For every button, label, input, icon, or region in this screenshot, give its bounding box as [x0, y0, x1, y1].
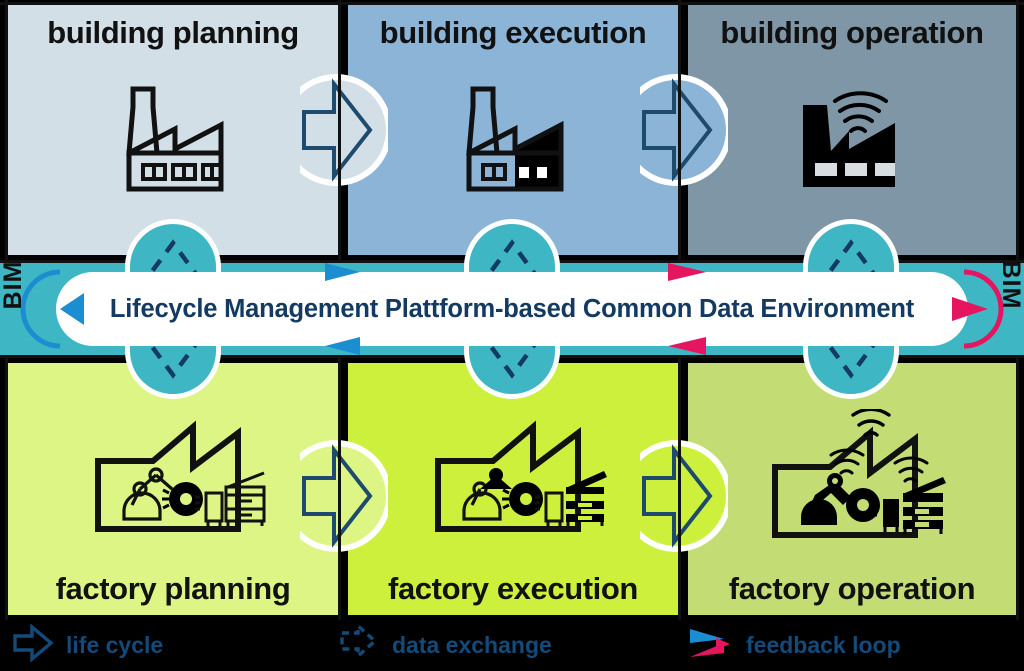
bim-label-left: BIM: [0, 248, 26, 322]
legend-label: feedback loop: [746, 632, 901, 659]
life-cycle-arrow-bottom-right: [640, 434, 728, 558]
factory-robot-outline-icon: [8, 399, 338, 569]
grid-edge-right-top: [1016, 0, 1019, 260]
factory-robot-filled-wifi-icon: [688, 399, 1016, 569]
panel-title: factory planning: [8, 571, 338, 607]
grid-divider-v4: [678, 358, 681, 620]
legend-label: life cycle: [66, 632, 163, 659]
factory-filled-wifi-icon: [688, 63, 1016, 203]
grid-edge-left-top: [5, 0, 8, 260]
panel-building-planning: building planning: [8, 5, 338, 255]
bim-label-right: BIM: [998, 248, 1024, 322]
cde-label: Lifecycle Management Plattform-based Com…: [56, 272, 968, 346]
panel-building-execution: building execution: [348, 5, 678, 255]
panel-title: building operation: [688, 15, 1016, 51]
panel-title: building execution: [348, 15, 678, 51]
grid-divider-v2: [678, 0, 681, 260]
dashed-arrow-icon: [338, 623, 380, 668]
double-arrow-blue-pink-icon: [686, 623, 734, 668]
diagram-canvas: building planning building execution: [0, 0, 1024, 671]
factory-half-filled-icon: [348, 63, 678, 203]
grid-divider-v1: [338, 0, 341, 260]
panel-factory-operation: factory operation: [688, 363, 1016, 615]
grid-divider-v3: [338, 358, 341, 620]
factory-outline-icon: [8, 63, 338, 203]
factory-robot-half-filled-icon: [348, 399, 678, 569]
panel-building-operation: building operation: [688, 5, 1016, 255]
grid-edge-top: [0, 2, 1024, 5]
life-cycle-arrow-bottom-left: [300, 434, 388, 558]
panel-factory-planning: factory planning: [8, 363, 338, 615]
panel-title: building planning: [8, 15, 338, 51]
legend-label: data exchange: [392, 632, 552, 659]
legend: life cycle data exchange feedback: [0, 620, 1024, 671]
life-cycle-arrow-top-left: [300, 68, 388, 192]
panel-factory-execution: factory execution: [348, 363, 678, 615]
legend-item-feedback-loop: feedback loop: [686, 625, 901, 665]
grid-edge-right-bottom: [1016, 358, 1019, 620]
outline-arrow-icon: [12, 624, 54, 667]
legend-item-data-exchange: data exchange: [338, 625, 552, 665]
panel-title: factory operation: [688, 571, 1016, 607]
legend-item-life-cycle: life cycle: [12, 625, 163, 665]
life-cycle-arrow-top-right: [640, 68, 728, 192]
panel-title: factory execution: [348, 571, 678, 607]
grid-edge-left-bottom: [5, 358, 8, 620]
